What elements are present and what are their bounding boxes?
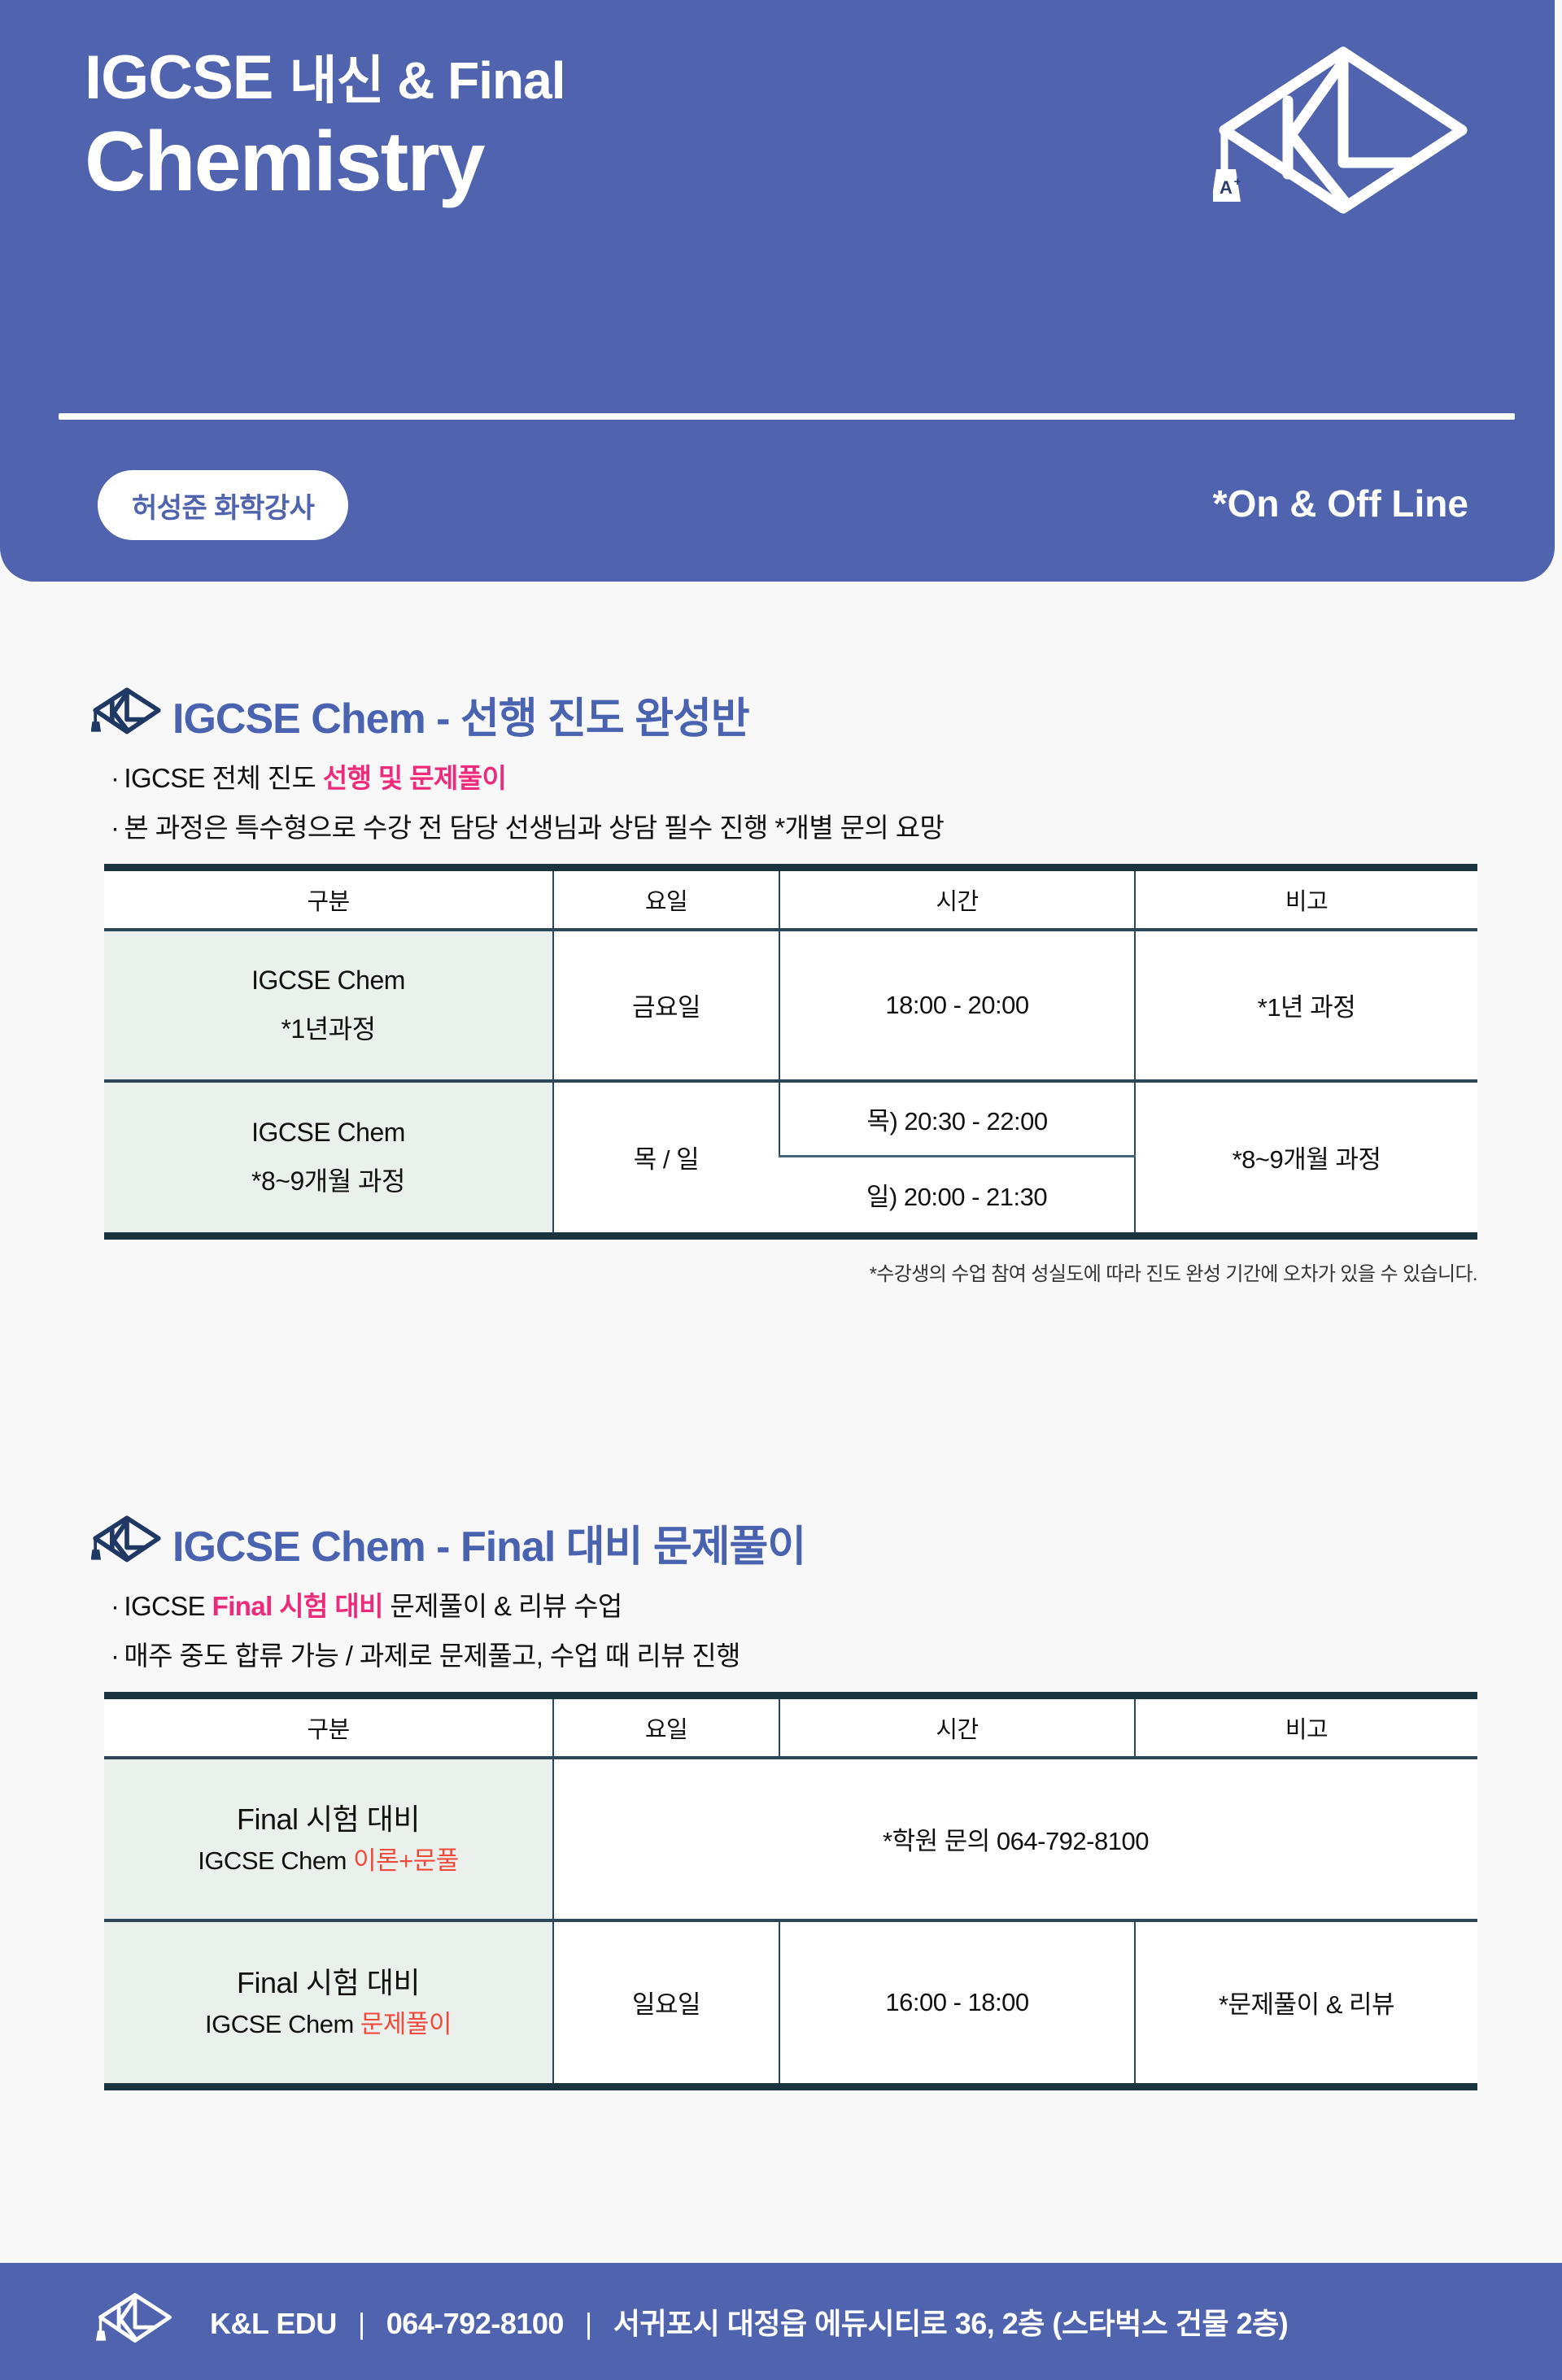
table-header-row: 구분 요일 시간 비고 (104, 1696, 1477, 1758)
cell-time: 18:00 - 20:00 (779, 930, 1135, 1081)
instructor-badge: 허성준 화학강사 (98, 470, 348, 540)
bullet-dot-icon: · (111, 763, 119, 793)
table-bottom-rule (104, 2083, 1477, 2090)
cell-day: 금요일 (553, 930, 779, 1081)
cell-course-name: Final 시험 대비 IGCSE Chem 문제풀이 (104, 1920, 553, 2083)
section-2-header: IGCSE Chem - Final 대비 문제풀이 (0, 1503, 1562, 1581)
section-final-prep: IGCSE Chem - Final 대비 문제풀이 ·IGCSE Final … (0, 1503, 1562, 2090)
footer-address: 서귀포시 대정읍 에듀시티로 36, 2층 (스타벅스 건물 2층) (613, 2307, 1288, 2340)
course-name-plain: IGCSE Chem (198, 1846, 353, 1875)
col-header-day: 요일 (553, 868, 779, 930)
cell-note: *1년 과정 (1135, 930, 1477, 1081)
footer-phone[interactable]: 064-792-8100 (386, 2307, 564, 2340)
col-header-note: 비고 (1135, 868, 1477, 930)
bullet-text-highlight: Final 시험 대비 (212, 1591, 383, 1621)
cell-day: 목 / 일 (553, 1081, 779, 1232)
bullet-text-plain: IGCSE 전체 진도 (124, 763, 322, 793)
col-header-note: 비고 (1135, 1696, 1477, 1758)
page-title-line1: IGCSE 내신 & Final (85, 42, 1061, 113)
col-header-category: 구분 (104, 868, 553, 930)
bullet-text-after: 문제풀이 & 리뷰 수업 (383, 1591, 622, 1621)
section-2-bullets: ·IGCSE Final 시험 대비 문제풀이 & 리뷰 수업 ·매주 중도 합… (0, 1593, 1562, 1669)
cell-note: *문제풀이 & 리뷰 (1135, 1920, 1477, 2083)
bullet-item: ·본 과정은 특수형으로 수강 전 담당 선생님과 상담 필수 진행 *개별 문… (111, 814, 1562, 841)
schedule-table-2: 구분 요일 시간 비고 Final 시험 대비 IGCSE Chem 이론+문풀… (104, 1692, 1477, 2083)
col-header-time: 시간 (779, 1696, 1135, 1758)
svg-text:A: A (1219, 177, 1233, 198)
table-footnote: *수강생의 수업 참여 성실도에 따라 진도 완성 기간에 오차가 있을 수 있… (104, 1258, 1477, 1286)
course-name-line2: IGCSE Chem 문제풀이 (104, 2005, 552, 2044)
bullet-text-plain: 매주 중도 합류 가능 / 과제로 문제풀고, 수업 때 리뷰 진행 (124, 1641, 740, 1671)
header-divider-line (59, 413, 1515, 420)
col-header-time: 시간 (779, 868, 1135, 930)
graduation-cap-kl-logo-icon: A + (1213, 39, 1473, 242)
bullet-dot-icon: · (111, 1591, 119, 1621)
bullet-dot-icon: · (111, 813, 119, 843)
footer-separator: | (585, 2307, 592, 2341)
cell-time-sun: 일) 20:00 - 21:30 (779, 1157, 1135, 1232)
section-advance-course: IGCSE Chem - 선행 진도 완성반 ·IGCSE 전체 진도 선행 및… (0, 675, 1562, 1286)
cell-inquiry-merged: *학원 문의 064-792-8100 (553, 1758, 1477, 1920)
cell-day: 일요일 (553, 1920, 779, 2083)
cell-course-name: Final 시험 대비 IGCSE Chem 이론+문풀 (104, 1758, 553, 1920)
footer-contact-line: K&L EDU|064-792-8100|서귀포시 대정읍 에듀시티로 36, … (210, 2300, 1288, 2343)
cell-time-thu: 목) 20:30 - 22:00 (779, 1081, 1135, 1157)
course-name-highlight: 문제풀이 (360, 2010, 452, 2038)
header-title-block: IGCSE 내신 & Final Chemistry (85, 42, 1061, 207)
title-en: IGCSE (85, 43, 273, 112)
bullet-item: ·IGCSE Final 시험 대비 문제풀이 & 리뷰 수업 (111, 1593, 1562, 1619)
instructor-badge-label: 허성준 화학강사 (132, 486, 314, 525)
page-title-subject: Chemistry (85, 118, 1061, 207)
bullet-text-plain: IGCSE (124, 1591, 212, 1621)
col-header-day: 요일 (553, 1696, 779, 1758)
footer-bar: K&L EDU|064-792-8100|서귀포시 대정읍 에듀시티로 36, … (0, 2263, 1562, 2380)
graduation-cap-kl-logo-icon (91, 685, 163, 743)
course-name-line1: Final 시험 대비 (104, 1960, 552, 2006)
graduation-cap-kl-logo-icon (91, 1513, 163, 1571)
graduation-cap-kl-logo-icon (96, 2282, 174, 2360)
bullet-item: ·IGCSE 전체 진도 선행 및 문제풀이 (111, 765, 1562, 791)
course-name-line2: IGCSE Chem 이론+문풀 (104, 1842, 552, 1881)
footer-separator: | (358, 2307, 365, 2341)
table-row: IGCSE Chem *8~9개월 과정 목 / 일 목) 20:30 - 22… (104, 1081, 1477, 1157)
course-name-plain: IGCSE Chem (205, 2010, 360, 2038)
course-name-highlight: 이론+문풀 (353, 1846, 459, 1875)
course-name-line1: IGCSE Chem (104, 957, 552, 1005)
header-panel: IGCSE 내신 & Final Chemistry (0, 0, 1555, 582)
table-row: IGCSE Chem *1년과정 금요일 18:00 - 20:00 *1년 과… (104, 930, 1477, 1081)
cell-note: *8~9개월 과정 (1135, 1081, 1477, 1232)
on-off-line-label: *On & Off Line (1213, 482, 1468, 525)
table-row: Final 시험 대비 IGCSE Chem 문제풀이 일요일 16:00 - … (104, 1920, 1477, 2083)
course-name-line1: IGCSE Chem (104, 1109, 552, 1157)
title-ko: 내신 & Final (290, 51, 565, 110)
bullet-dot-icon: · (111, 1641, 119, 1671)
footer-brand: K&L EDU (210, 2307, 337, 2340)
schedule-table-1: 구분 요일 시간 비고 IGCSE Chem *1년과정 금요일 18:00 -… (104, 864, 1477, 1232)
course-name-line2: *8~9개월 과정 (104, 1157, 552, 1205)
bullet-text-plain: 본 과정은 특수형으로 수강 전 담당 선생님과 상담 필수 진행 *개별 문의… (124, 813, 944, 843)
cell-course-name: IGCSE Chem *1년과정 (104, 930, 553, 1081)
bullet-item: ·매주 중도 합류 가능 / 과제로 문제풀고, 수업 때 리뷰 진행 (111, 1642, 1562, 1669)
cell-course-name: IGCSE Chem *8~9개월 과정 (104, 1081, 553, 1232)
section-1-bullets: ·IGCSE 전체 진도 선행 및 문제풀이 ·본 과정은 특수형으로 수강 전… (0, 765, 1562, 841)
col-header-category: 구분 (104, 1696, 553, 1758)
svg-text:+: + (1234, 175, 1241, 189)
section-1-header: IGCSE Chem - 선행 진도 완성반 (0, 675, 1562, 753)
table-bottom-rule (104, 1232, 1477, 1240)
section-2-title: IGCSE Chem - Final 대비 문제풀이 (172, 1512, 805, 1573)
bullet-text-highlight: 선행 및 문제풀이 (323, 763, 506, 793)
course-name-line2: *1년과정 (104, 1005, 552, 1053)
course-name-line1: Final 시험 대비 (104, 1797, 552, 1842)
table-row: Final 시험 대비 IGCSE Chem 이론+문풀 *학원 문의 064-… (104, 1758, 1477, 1920)
poster-page: IGCSE 내신 & Final Chemistry (0, 0, 1562, 2380)
section-1-title: IGCSE Chem - 선행 진도 완성반 (172, 684, 749, 745)
cell-time: 16:00 - 18:00 (779, 1920, 1135, 2083)
table-header-row: 구분 요일 시간 비고 (104, 868, 1477, 930)
